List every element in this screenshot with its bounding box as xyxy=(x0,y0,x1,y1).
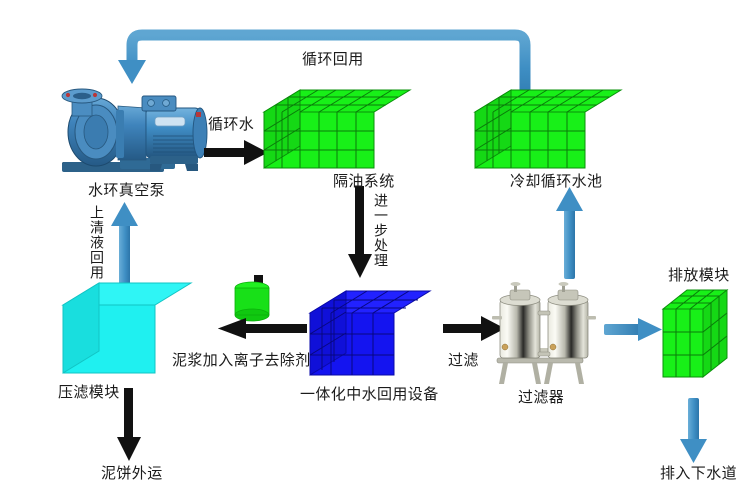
edge-label-recycle-reuse: 循环回用 xyxy=(302,52,364,69)
box-integrated-reuse-equipment xyxy=(310,291,430,375)
arrow-sludge-cake-out xyxy=(117,388,141,461)
edge-label-supernatant-reuse: 上清液回用 xyxy=(90,205,104,280)
equipment-bag-filter-units xyxy=(492,282,596,384)
box-oil-separator xyxy=(264,90,410,168)
node-label-press-filter-module: 压滤模块 xyxy=(58,385,120,402)
arrow-sludge-dosing xyxy=(218,318,307,339)
arrow-circulating-water xyxy=(204,140,268,165)
edge-label-sludge-dosing: 泥浆加入离子去除剂 xyxy=(172,353,311,370)
edge-label-further-treatment: 进一步处理 xyxy=(374,193,388,268)
arrow-filter-to-cooling-pool xyxy=(556,187,583,279)
arrow-further-treatment xyxy=(348,186,372,278)
arrow-to-sewer xyxy=(680,398,707,463)
node-label-water-ring-vacuum-pump: 水环真空泵 xyxy=(88,183,165,200)
edge-label-filtration: 过滤 xyxy=(448,353,479,370)
node-label-integrated-reuse-equipment: 一体化中水回用设备 xyxy=(300,387,439,404)
box-discharge-module xyxy=(663,290,727,377)
tank-ion-removal-dosing xyxy=(235,275,269,321)
arrow-filter-to-discharge xyxy=(604,318,662,341)
node-label-discharge-module: 排放模块 xyxy=(668,268,730,285)
arrow-supernatant-reuse xyxy=(111,202,138,294)
node-label-filter-unit: 过滤器 xyxy=(518,390,564,407)
node-label-cooling-pool: 冷却循环水池 xyxy=(510,174,602,191)
equipment-water-ring-vacuum-pump xyxy=(62,89,207,172)
node-label-oil-separator: 隔油系统 xyxy=(333,174,395,191)
arrow-filtration xyxy=(443,316,505,341)
diagram-canvas: 循环回用 循环水 水环真空泵 隔油系统 冷却循环水池 进一步处理 上清液回用 压… xyxy=(0,0,745,500)
edge-label-circulating-water: 循环水 xyxy=(208,117,254,134)
box-cooling-pool xyxy=(475,90,621,168)
edge-label-to-sewer: 排入下水道 xyxy=(660,466,737,483)
edge-label-sludge-cake-out: 泥饼外运 xyxy=(101,466,163,483)
